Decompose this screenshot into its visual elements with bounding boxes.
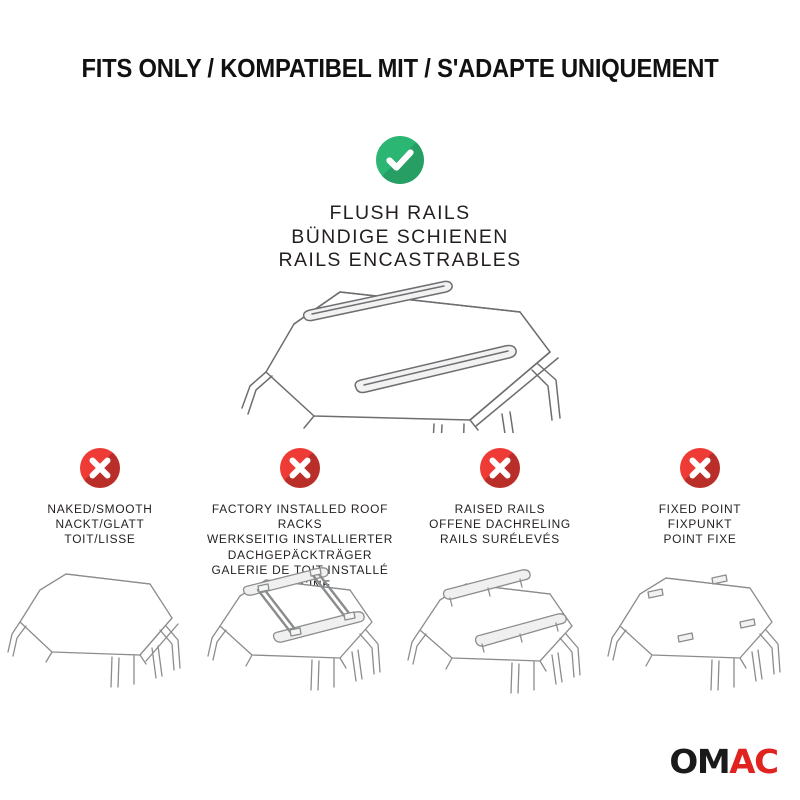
label-line-1: FIXED POINT xyxy=(604,502,796,517)
car-roof-flush-rails-illustration xyxy=(0,268,800,438)
incompatible-label: RAISED RAILS OFFENE DACHRELING RAILS SUR… xyxy=(404,502,596,548)
x-circle-icon xyxy=(80,448,120,488)
label-line-3: POINT FIXE xyxy=(604,532,796,547)
incompatible-illustrations xyxy=(0,556,800,696)
car-roof-fixed-point-illustration xyxy=(600,556,800,696)
compatible-label: FLUSH RAILS BÜNDIGE SCHIENEN RAILS ENCAS… xyxy=(0,202,800,273)
compatible-label-line-1: FLUSH RAILS xyxy=(0,202,800,226)
car-roof-naked-illustration xyxy=(0,556,200,696)
compatible-section: FLUSH RAILS BÜNDIGE SCHIENEN RAILS ENCAS… xyxy=(0,136,800,273)
label-line-2: WERKSEITIG INSTALLIERTER xyxy=(204,532,396,547)
label-line-1: FACTORY INSTALLED ROOF RACKS xyxy=(204,502,396,532)
label-line-3: RAILS SURÉLEVÉS xyxy=(404,532,596,547)
compatibility-infographic: FITS ONLY / KOMPATIBEL MIT / S'ADAPTE UN… xyxy=(0,0,800,800)
omac-logo: OMAC xyxy=(669,745,777,778)
label-line-3: TOIT/LISSE xyxy=(4,532,196,547)
label-line-1: NAKED/SMOOTH xyxy=(4,502,196,517)
page-title: FITS ONLY / KOMPATIBEL MIT / S'ADAPTE UN… xyxy=(28,52,772,86)
check-circle-icon xyxy=(376,136,424,184)
compatible-label-line-2: BÜNDIGE SCHIENEN xyxy=(0,226,800,250)
logo-text-red: AC xyxy=(729,742,777,781)
label-line-2: NACKT/GLATT xyxy=(4,517,196,532)
label-line-2: FIXPUNKT xyxy=(604,517,796,532)
label-line-1: RAISED RAILS xyxy=(404,502,596,517)
car-roof-factory-racks-illustration xyxy=(200,556,400,696)
x-circle-icon xyxy=(680,448,720,488)
logo-text-dark: OM xyxy=(669,742,729,781)
x-circle-icon xyxy=(480,448,520,488)
label-line-2: OFFENE DACHRELING xyxy=(404,517,596,532)
x-circle-icon xyxy=(280,448,320,488)
incompatible-label: NAKED/SMOOTH NACKT/GLATT TOIT/LISSE xyxy=(4,502,196,548)
car-roof-raised-rails-illustration xyxy=(400,556,600,696)
incompatible-label: FIXED POINT FIXPUNKT POINT FIXE xyxy=(604,502,796,548)
